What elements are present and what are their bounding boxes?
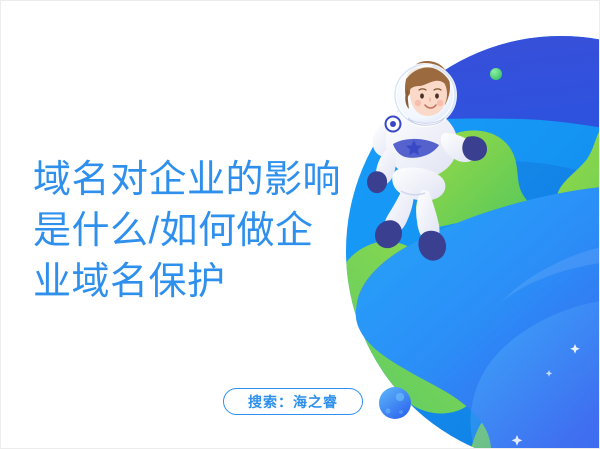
green-dot-accent (490, 68, 502, 80)
poster-canvas: 域名对企业的影响 是什么/如何做企 业域名保护 搜索：海之睿 (0, 0, 600, 449)
search-pill-button[interactable]: 搜索：海之睿 (223, 388, 363, 415)
headline-line-3: 业域名保护 (33, 257, 383, 308)
search-pill-label: 搜索：海之睿 (248, 395, 338, 409)
headline: 域名对企业的影响 是什么/如何做企 业域名保护 (33, 155, 383, 308)
headline-line-1: 域名对企业的影响 (33, 155, 383, 206)
headline-line-2: 是什么/如何做企 (33, 206, 383, 257)
small-blue-moon (379, 387, 411, 419)
